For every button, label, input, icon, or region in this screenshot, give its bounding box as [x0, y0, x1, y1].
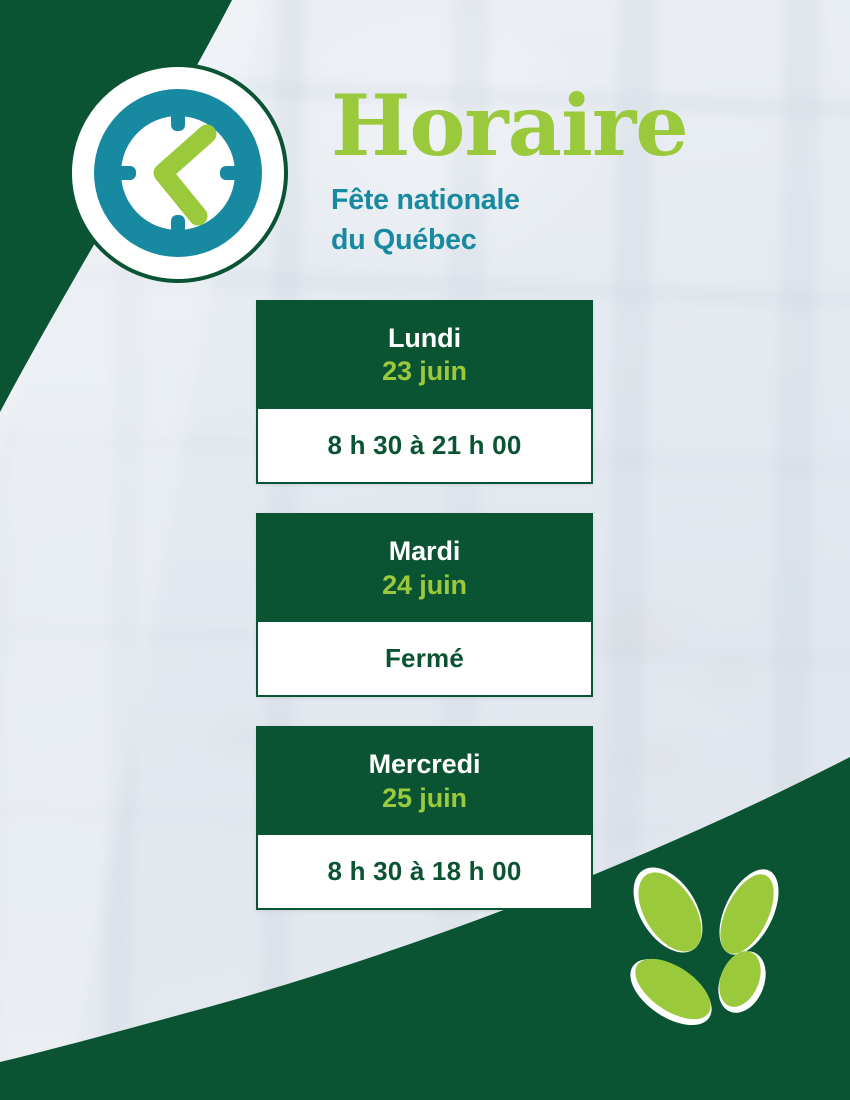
logo-petal-bottom-left: [619, 946, 723, 1039]
schedule-card-body: Fermé: [256, 622, 593, 697]
schedule-card: Mardi 24 juin Fermé: [256, 513, 593, 697]
schedule-hours-label: 8 h 30 à 18 h 00: [266, 856, 583, 887]
schedule-poster: Horaire Fête nationale du Québec Lundi 2…: [0, 0, 850, 1100]
butterfly-flower-logo: [614, 858, 810, 1054]
title-block: Horaire Fête nationale du Québec: [331, 86, 751, 261]
schedule-card-header: Mercredi 25 juin: [256, 726, 593, 835]
schedule-list: Lundi 23 juin 8 h 30 à 21 h 00 Mardi 24 …: [256, 300, 593, 910]
logo-petal-top-right: [707, 860, 790, 964]
schedule-day-label: Lundi: [266, 322, 583, 355]
schedule-day-label: Mercredi: [266, 748, 583, 781]
schedule-card-body: 8 h 30 à 18 h 00: [256, 835, 593, 910]
schedule-card-body: 8 h 30 à 21 h 00: [256, 409, 593, 484]
page-title: Horaire: [331, 86, 751, 166]
schedule-card: Mercredi 25 juin 8 h 30 à 18 h 00: [256, 726, 593, 910]
schedule-card: Lundi 23 juin 8 h 30 à 21 h 00: [256, 300, 593, 484]
logo-petal-bottom-right: [710, 944, 775, 1020]
schedule-date-label: 24 juin: [266, 569, 583, 602]
clock-icon: [67, 62, 289, 284]
schedule-day-label: Mardi: [266, 535, 583, 568]
schedule-hours-label: 8 h 30 à 21 h 00: [266, 430, 583, 461]
schedule-card-header: Lundi 23 juin: [256, 300, 593, 409]
page-subtitle: Fête nationale du Québec: [331, 180, 751, 261]
logo-petal-top-left: [619, 858, 716, 965]
schedule-hours-label: Fermé: [266, 643, 583, 674]
schedule-date-label: 25 juin: [266, 782, 583, 815]
schedule-date-label: 23 juin: [266, 355, 583, 388]
schedule-card-header: Mardi 24 juin: [256, 513, 593, 622]
